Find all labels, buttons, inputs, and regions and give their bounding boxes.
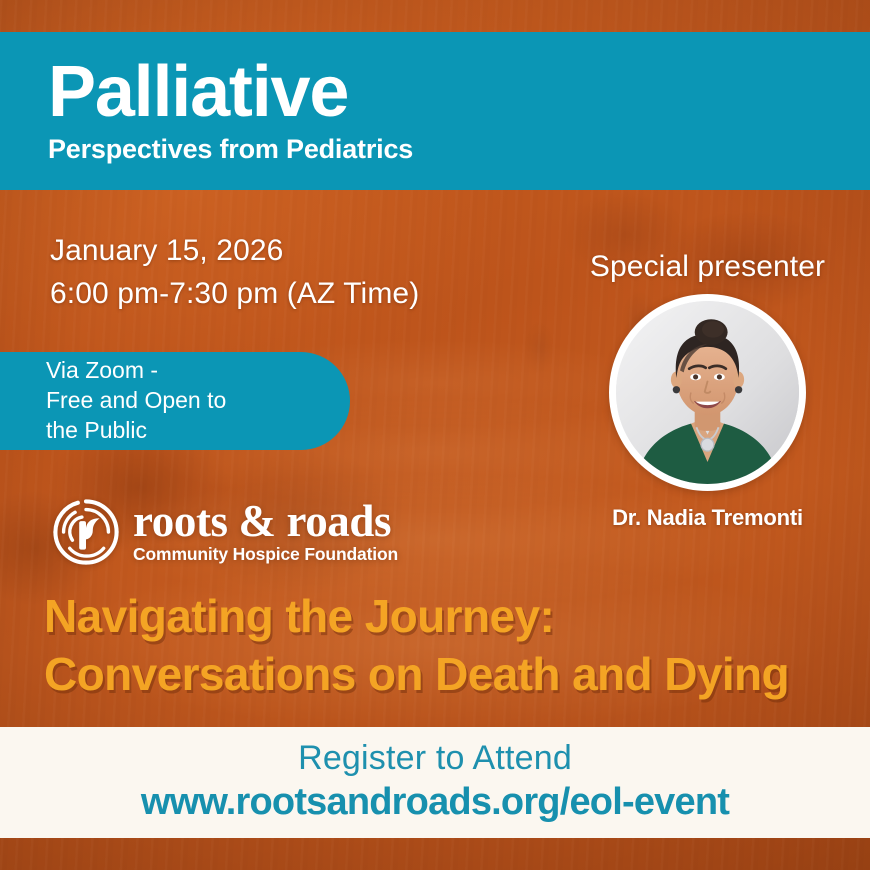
registration-url[interactable]: www.rootsandroads.org/eol-event xyxy=(141,781,729,825)
logo-tagline: Community Hospice Foundation xyxy=(133,544,398,564)
event-time: 6:00 pm-7:30 pm (AZ Time) xyxy=(50,273,419,316)
register-cta-text: Register to Attend xyxy=(298,740,572,777)
registration-footer: Register to Attend www.rootsandroads.org… xyxy=(0,727,870,838)
access-line-1: Via Zoom - xyxy=(46,356,330,386)
access-line-3: the Public xyxy=(46,416,330,446)
page-subtitle: Perspectives from Pediatrics xyxy=(48,134,870,165)
header-banner: Palliative Perspectives from Pediatrics xyxy=(0,32,870,190)
event-flyer: Palliative Perspectives from Pediatrics … xyxy=(0,0,870,870)
presenter-photo xyxy=(616,301,799,484)
organization-logo: roots & roads Community Hospice Foundati… xyxy=(52,498,398,566)
presenter-name: Dr. Nadia Tremonti xyxy=(612,505,803,531)
presenter-label: Special presenter xyxy=(590,250,825,284)
headline-line-1: Navigating the Journey: xyxy=(44,588,789,646)
page-title: Palliative xyxy=(48,57,870,128)
event-datetime: January 15, 2026 6:00 pm-7:30 pm (AZ Tim… xyxy=(50,230,419,315)
logo-name: roots & roads xyxy=(133,500,398,542)
event-headline: Navigating the Journey: Conversations on… xyxy=(44,588,789,704)
event-access-badge: Via Zoom - Free and Open to the Public xyxy=(0,352,350,450)
presenter-block: Special presenter xyxy=(560,250,855,531)
presenter-avatar xyxy=(609,294,806,491)
logo-wordmark: roots & roads Community Hospice Foundati… xyxy=(133,500,398,564)
event-date: January 15, 2026 xyxy=(50,230,419,273)
headline-line-2: Conversations on Death and Dying xyxy=(44,646,789,704)
roots-and-roads-emblem-icon xyxy=(52,498,120,566)
access-line-2: Free and Open to xyxy=(46,386,330,416)
